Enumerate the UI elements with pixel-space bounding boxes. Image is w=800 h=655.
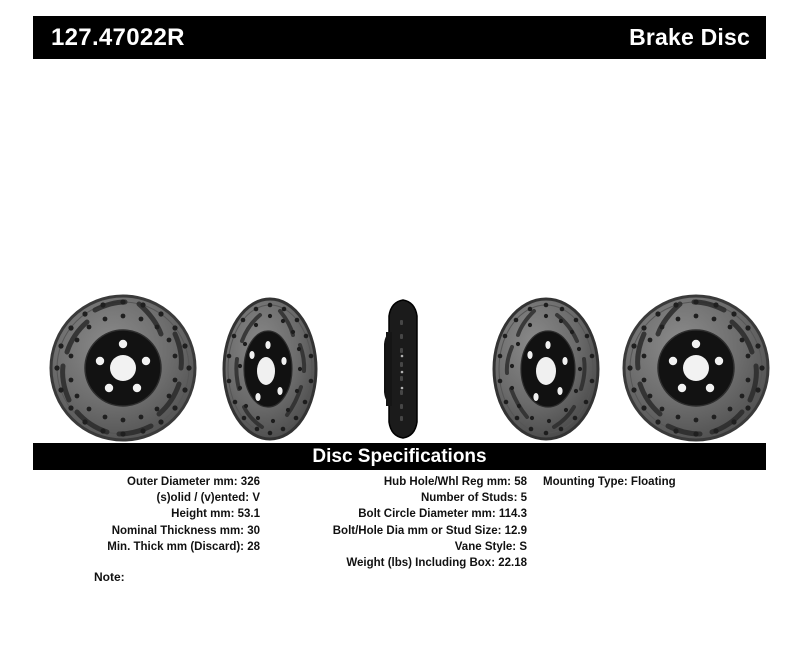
spec-column-right: Mounting Type: Floating: [543, 474, 766, 490]
spec-outer-diameter: Outer Diameter mm: 326: [33, 474, 260, 490]
disc-specifications-bar: Disc Specifications: [33, 443, 766, 470]
note-row: Note:: [94, 570, 125, 584]
spec-bolt-circle-diameter: Bolt Circle Diameter mm: 114.3: [264, 506, 527, 522]
product-image-row: [33, 292, 766, 444]
disc-view-edge-profile: [373, 298, 433, 440]
disc-view-front-face-right: [620, 292, 772, 444]
spec-hub-hole: Hub Hole/Whl Reg mm: 58: [264, 474, 527, 490]
spec-mounting-type: Mounting Type: Floating: [543, 474, 766, 490]
spec-number-of-studs: Number of Studs: 5: [264, 490, 527, 506]
disc-view-angled-left: [476, 296, 616, 442]
spec-min-thickness: Min. Thick mm (Discard): 28: [33, 539, 260, 555]
spec-nominal-thickness: Nominal Thickness mm: 30: [33, 523, 260, 539]
spec-solid-vented: (s)olid / (v)ented: V: [33, 490, 260, 506]
disc-view-angled-right: [205, 296, 335, 442]
spec-column-left: Outer Diameter mm: 326 (s)olid / (v)ente…: [33, 474, 260, 555]
spec-bolt-hole-dia: Bolt/Hole Dia mm or Stud Size: 12.9: [264, 523, 527, 539]
header-bar: 127.47022R Brake Disc: [33, 16, 766, 59]
specifications-area: Outer Diameter mm: 326 (s)olid / (v)ente…: [33, 474, 766, 584]
spec-weight: Weight (lbs) Including Box: 22.18: [264, 555, 527, 571]
spec-height: Height mm: 53.1: [33, 506, 260, 522]
spec-vane-style: Vane Style: S: [264, 539, 527, 555]
disc-view-front-face-left: [47, 292, 199, 444]
note-label: Note:: [94, 570, 125, 584]
spec-column-middle: Hub Hole/Whl Reg mm: 58 Number of Studs:…: [264, 474, 527, 571]
page-title: Brake Disc: [629, 26, 750, 49]
disc-specifications-title: Disc Specifications: [312, 447, 486, 466]
spec-sheet-page: 127.47022R Brake Disc: [0, 0, 800, 655]
part-number: 127.47022R: [51, 26, 185, 50]
